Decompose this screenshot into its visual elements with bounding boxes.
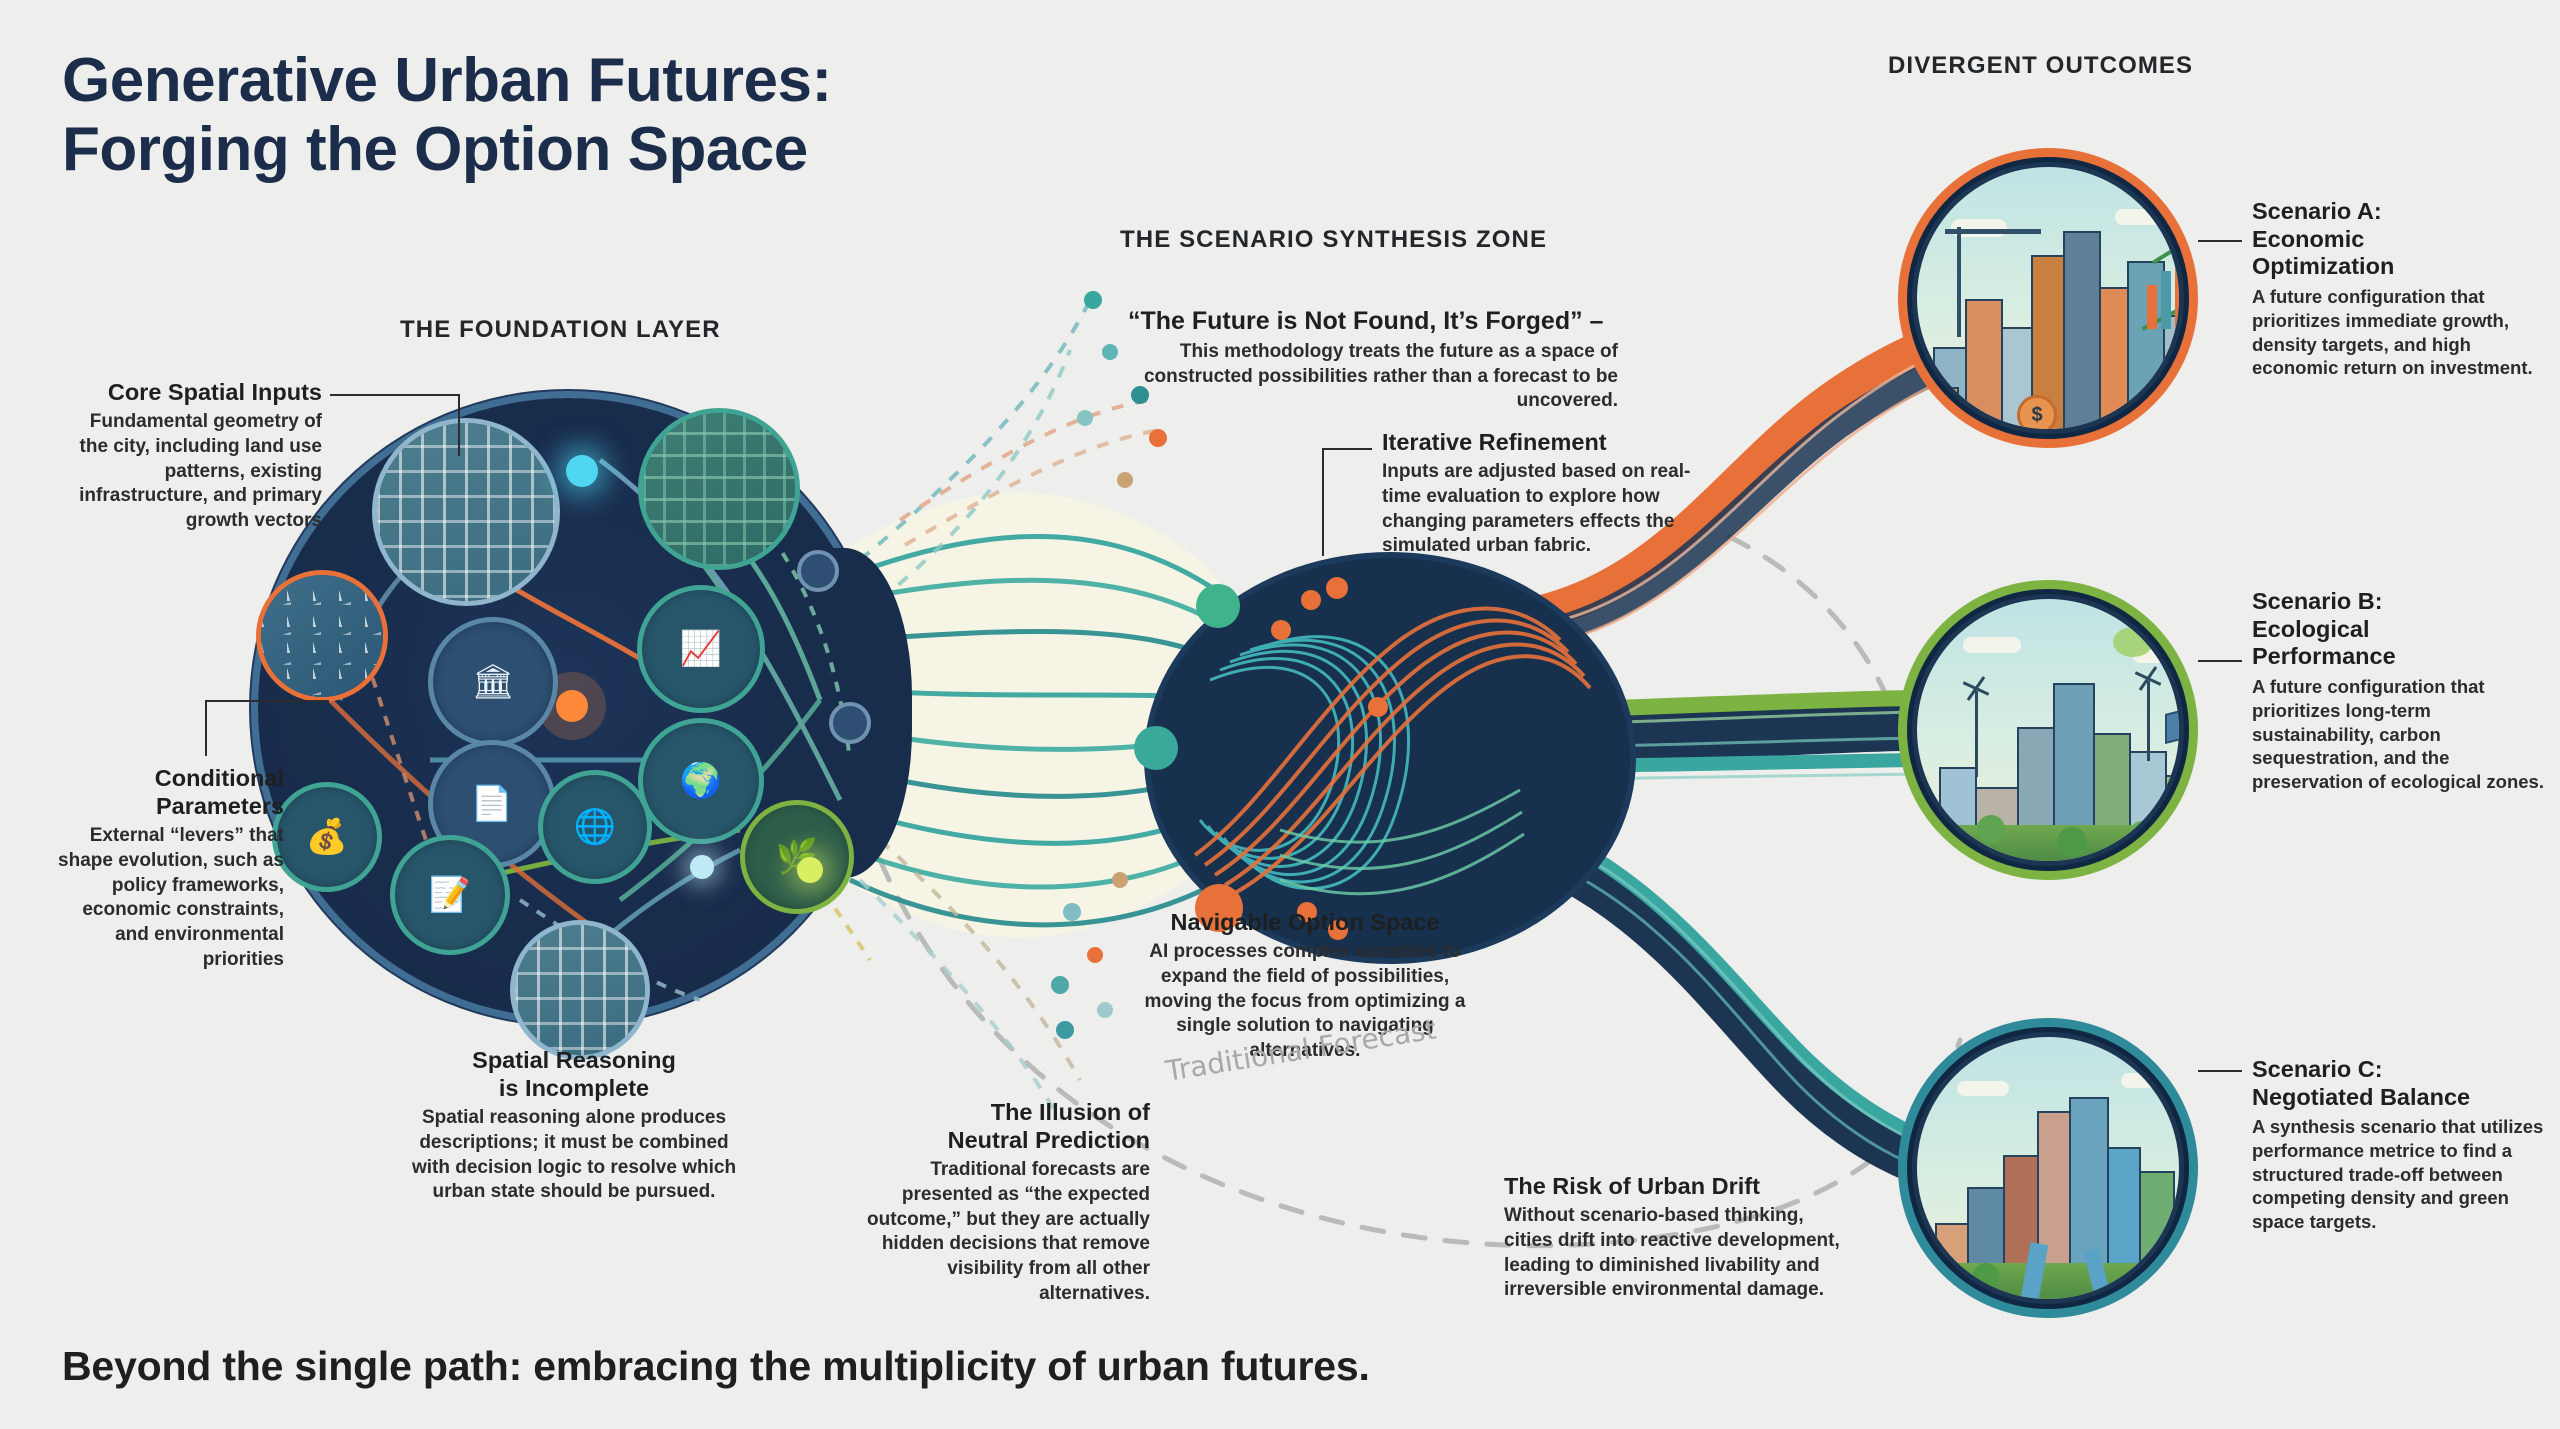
annotation-core-spatial-inputs: Core Spatial Inputs Fundamental geometry… bbox=[60, 378, 322, 534]
building bbox=[2163, 315, 2184, 429]
glow-node-yellow bbox=[797, 857, 823, 883]
node-money-lever[interactable]: 💰 bbox=[272, 782, 382, 892]
node-policy-institution[interactable]: 🏛 bbox=[428, 617, 558, 747]
scenario-b-title-line3: Performance bbox=[2252, 643, 2552, 671]
annotation-body: External “levers” that shape evolution, … bbox=[44, 824, 284, 972]
building bbox=[2127, 261, 2165, 429]
page-title-line2: Forging the Option Space bbox=[62, 115, 1162, 184]
annotation-iterative-refinement: Iterative Refinement Inputs are adjusted… bbox=[1382, 428, 1712, 559]
map-grid-icon bbox=[377, 423, 555, 601]
node-network-map[interactable] bbox=[638, 408, 800, 570]
scenario-c-title-line2: Negotiated Balance bbox=[2252, 1084, 2552, 1112]
annotation-title-line1: The Illusion of bbox=[860, 1098, 1150, 1126]
annotation-title-line2: is Incomplete bbox=[400, 1074, 748, 1102]
building bbox=[2099, 287, 2129, 429]
leader-line-core-spatial-inputs-drop bbox=[458, 394, 460, 456]
building bbox=[2063, 231, 2101, 429]
scenario-a-image: $ bbox=[1912, 162, 2184, 434]
page-title-line1: Generative Urban Futures: bbox=[62, 46, 1162, 115]
tree-icon bbox=[1973, 1263, 1999, 1289]
scenario-b-label: Scenario B: Ecological Performance A fut… bbox=[2252, 588, 2552, 794]
annotation-body: Without scenario-based thinking, cities … bbox=[1504, 1204, 1856, 1303]
bar bbox=[2161, 271, 2171, 329]
annotation-body: Traditional forecasts are presented as “… bbox=[860, 1158, 1150, 1306]
scenario-a-label: Scenario A: Economic Optimization A futu… bbox=[2252, 198, 2552, 380]
crane-jib bbox=[1945, 229, 2041, 234]
eco-badge-icon bbox=[2113, 627, 2153, 657]
globe-icon: 🌐 bbox=[574, 810, 616, 844]
annotation-title: Iterative Refinement bbox=[1382, 428, 1712, 456]
leader-line-conditional-parameters bbox=[205, 700, 329, 702]
annotation-title-line1: Spatial Reasoning bbox=[400, 1046, 748, 1074]
node-globe[interactable]: 🌐 bbox=[538, 770, 652, 884]
annotation-title-line2: Neutral Prediction bbox=[860, 1126, 1150, 1154]
scenario-a-title-line1: Scenario A: bbox=[2252, 198, 2552, 226]
glow-node-cyan bbox=[566, 455, 598, 487]
scenario-b-image bbox=[1912, 594, 2184, 866]
scenario-c-title-line1: Scenario C: bbox=[2252, 1056, 2552, 1084]
sports-field-icon bbox=[2157, 1245, 2184, 1271]
node-land-parcels[interactable]: 🌍 bbox=[638, 718, 764, 844]
scenario-c-image bbox=[1912, 1032, 2184, 1304]
scenario-b-circle[interactable] bbox=[1898, 580, 2198, 880]
cloud-icon bbox=[2115, 209, 2161, 225]
annotation-illusion-neutral-prediction: The Illusion of Neutral Prediction Tradi… bbox=[860, 1098, 1150, 1307]
wind-turbine-icon bbox=[2147, 681, 2150, 761]
scenario-b-body: A future configuration that prioritizes … bbox=[2252, 675, 2552, 793]
document-icon: 📄 bbox=[471, 787, 513, 821]
tree-icon bbox=[2129, 821, 2155, 847]
tree-icon bbox=[2057, 827, 2087, 857]
building bbox=[1933, 387, 1959, 429]
leader-line-scenario-c bbox=[2198, 1070, 2242, 1072]
annotation-spatial-reasoning: Spatial Reasoning is Incomplete Spatial … bbox=[400, 1046, 748, 1205]
cloud-icon bbox=[1957, 1081, 2009, 1096]
annotation-body: Fundamental geometry of the city, includ… bbox=[60, 410, 322, 533]
annotation-body: Inputs are adjusted based on real-time e… bbox=[1382, 460, 1712, 559]
scenario-c-circle[interactable] bbox=[1898, 1018, 2198, 1318]
infrastructure-map-icon bbox=[515, 925, 645, 1055]
scenario-b-title-line2: Ecological bbox=[2252, 616, 2552, 644]
scenario-a-body: A future configuration that prioritizes … bbox=[2252, 285, 2552, 380]
leader-line-core-spatial-inputs bbox=[330, 394, 460, 396]
node-eco-leaf[interactable]: 🌿 bbox=[740, 800, 854, 914]
crane-icon bbox=[1957, 227, 1961, 337]
bar bbox=[2175, 259, 2184, 329]
cloud-icon bbox=[1963, 637, 2021, 653]
scenario-synthesis-hub bbox=[1150, 558, 1630, 958]
annotation-risk-urban-drift: The Risk of Urban Drift Without scenario… bbox=[1504, 1172, 1856, 1303]
annotation-title: Navigable Option Space bbox=[1140, 908, 1470, 936]
scenario-b-title-line1: Scenario B: bbox=[2252, 588, 2552, 616]
wind-turbine-icon bbox=[1975, 691, 1978, 777]
leader-line-scenario-a bbox=[2198, 240, 2242, 242]
node-growth-vector-map[interactable] bbox=[256, 570, 388, 702]
money-icon: 💰 bbox=[306, 820, 348, 854]
glow-node-white bbox=[690, 855, 714, 879]
section-header-divergent: DIVERGENT OUTCOMES bbox=[1888, 52, 2193, 80]
leader-line-scenario-b bbox=[2198, 660, 2242, 662]
scenario-a-title-line3: Optimization bbox=[2252, 253, 2552, 281]
section-header-synthesis: THE SCENARIO SYNTHESIS ZONE bbox=[1120, 226, 1547, 254]
annotation-future-not-found: “The Future is Not Found, It’s Forged” –… bbox=[1128, 306, 1618, 414]
network-map-icon bbox=[643, 413, 795, 565]
tree-icon bbox=[1977, 815, 2005, 843]
page-title: Generative Urban Futures: Forging the Op… bbox=[62, 46, 1162, 185]
footer-caption: Beyond the single path: embracing the mu… bbox=[62, 1343, 1762, 1390]
node-signed-policy[interactable]: 📝 bbox=[390, 835, 510, 955]
leader-line-iterative-refinement bbox=[1322, 448, 1372, 450]
annotation-title: The Risk of Urban Drift bbox=[1504, 1172, 1856, 1200]
scenario-c-body: A synthesis scenario that utilizes perfo… bbox=[2252, 1115, 2552, 1233]
cloud-icon bbox=[2121, 1073, 2169, 1088]
node-infrastructure-map[interactable] bbox=[510, 920, 650, 1060]
bank-institution-icon: 🏛 bbox=[471, 665, 514, 699]
section-header-foundation: THE FOUNDATION LAYER bbox=[400, 316, 721, 344]
leader-line-iterative-refinement-drop bbox=[1322, 448, 1324, 556]
annotation-body: Spatial reasoning alone produces descrip… bbox=[400, 1106, 748, 1205]
annotation-title: “The Future is Not Found, It’s Forged” – bbox=[1128, 306, 1618, 336]
leader-line-conditional-parameters-drop bbox=[205, 700, 207, 756]
node-land-use-map[interactable] bbox=[372, 418, 560, 606]
scenario-a-title-line2: Economic bbox=[2252, 226, 2552, 254]
bar bbox=[2147, 285, 2157, 329]
scenario-a-circle[interactable]: $ bbox=[1898, 148, 2198, 448]
annotation-title: Core Spatial Inputs bbox=[60, 378, 322, 406]
bar-chart-icon: 📈 bbox=[680, 632, 722, 666]
signed-document-icon: 📝 bbox=[429, 878, 471, 912]
dollar-icon: $ bbox=[2017, 395, 2057, 434]
growth-vector-map-icon bbox=[261, 575, 383, 697]
annotation-conditional-parameters: Conditional Parameters External “levers”… bbox=[44, 764, 284, 973]
annotation-title: Conditional Parameters bbox=[44, 764, 284, 820]
building bbox=[1965, 299, 2003, 429]
tree-icon bbox=[2131, 1267, 2155, 1291]
scenario-c-label: Scenario C: Negotiated Balance A synthes… bbox=[2252, 1056, 2552, 1234]
annotation-body: This methodology treats the future as a … bbox=[1128, 340, 1618, 414]
land-parcel-icon: 🌍 bbox=[680, 764, 722, 798]
node-economic-chart[interactable]: 📈 bbox=[637, 585, 765, 713]
